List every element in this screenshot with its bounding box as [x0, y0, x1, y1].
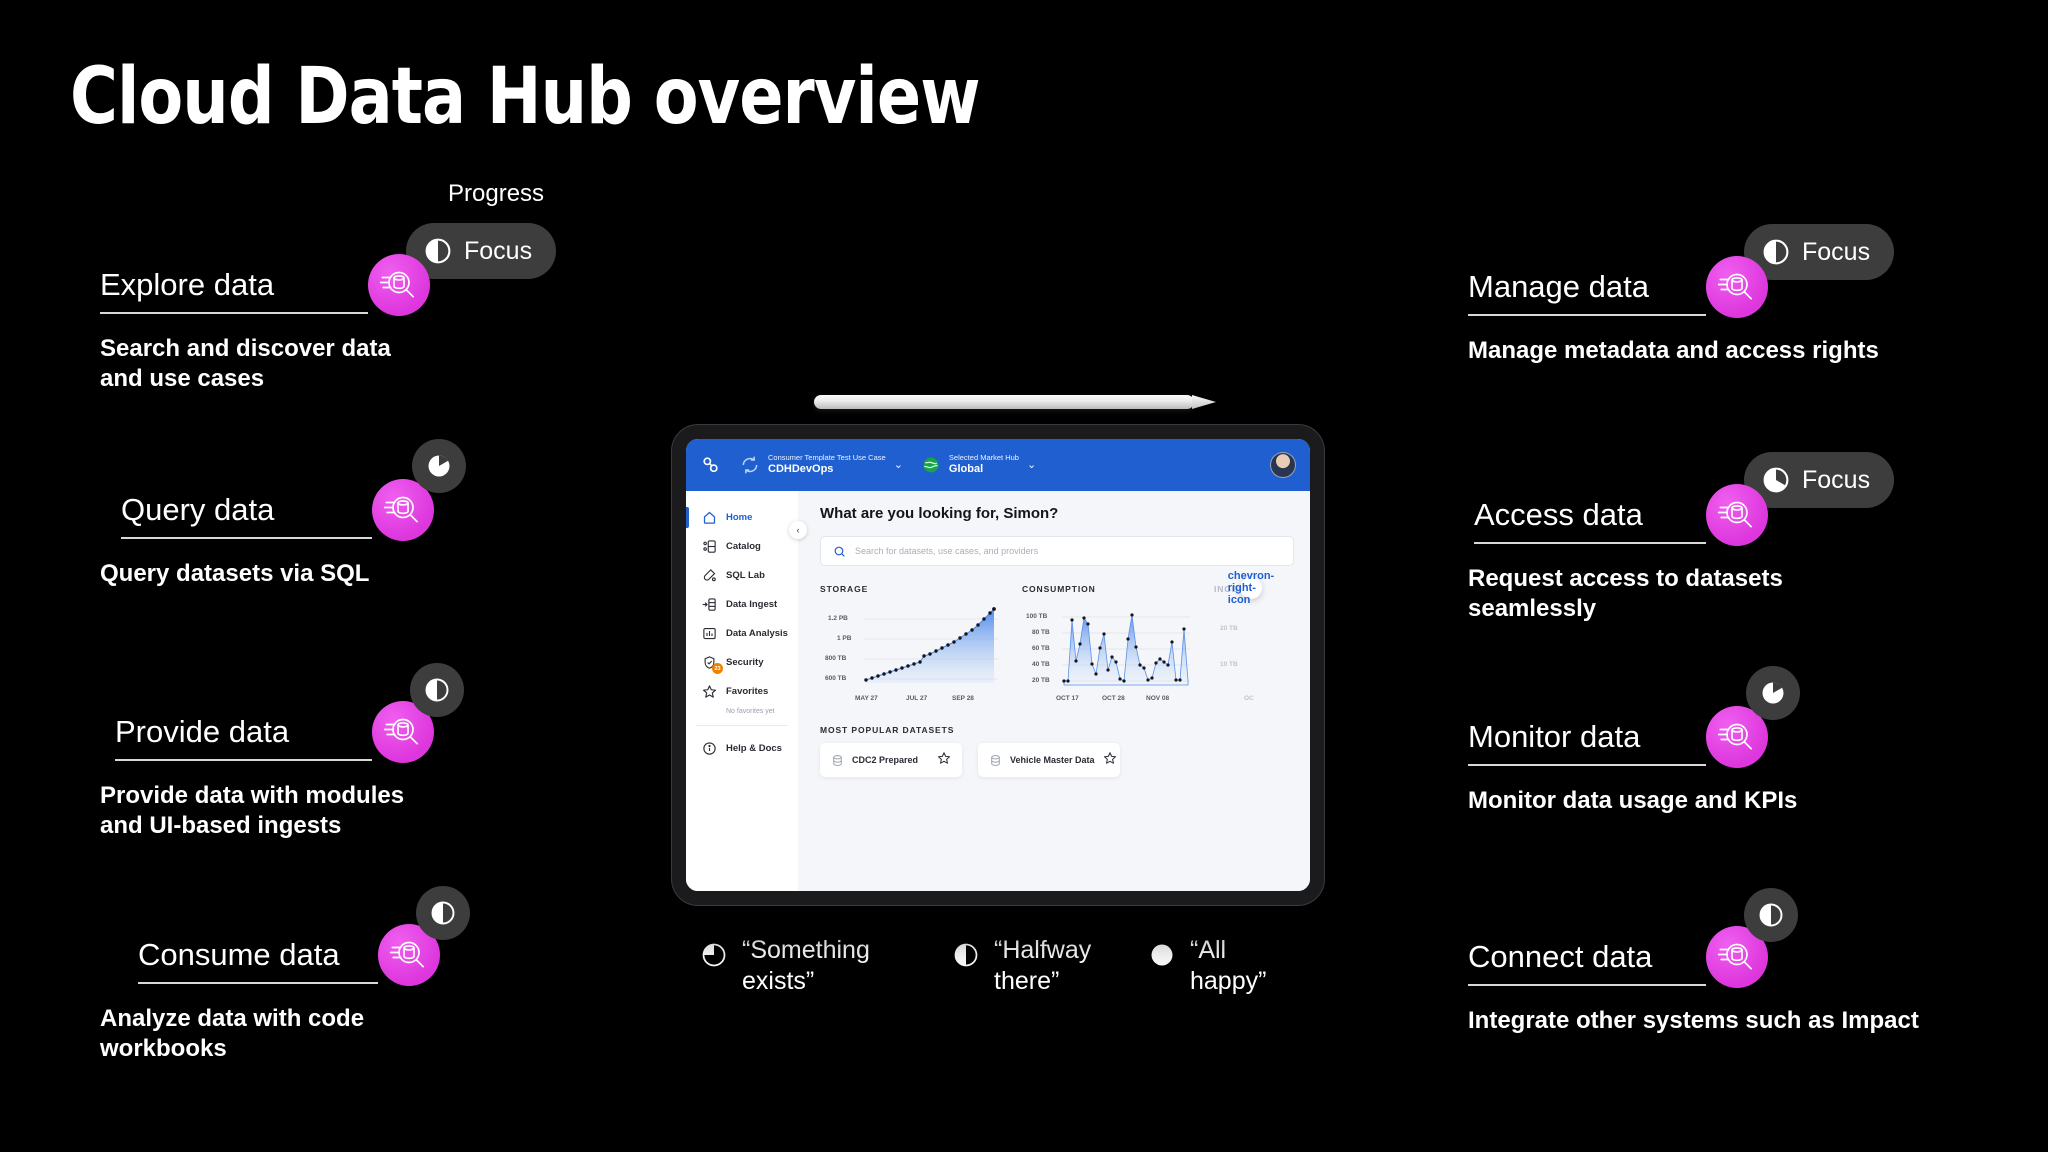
- capability-underline: [1468, 314, 1706, 316]
- capability-provide-data[interactable]: Provide data Provide data with modules a…: [100, 697, 720, 841]
- x-tick: NOV 08: [1146, 695, 1169, 702]
- sidebar-item-label: Data Ingest: [726, 599, 777, 610]
- capability-title: Consume data: [138, 939, 340, 974]
- progress-half-icon: [1757, 901, 1785, 929]
- star-icon: [702, 684, 717, 699]
- sidebar-item-label: Favorites: [726, 686, 768, 697]
- progress-caption: Progress: [448, 180, 544, 208]
- popular-datasets-caption: MOST POPULAR DATASETS: [820, 725, 1310, 735]
- sidebar-item-catalog[interactable]: Catalog: [686, 532, 798, 561]
- capability-consume-data[interactable]: Consume data Analyze data with code work…: [100, 920, 720, 1064]
- capability-title: Explore data: [100, 269, 274, 304]
- sidebar-item-label: Home: [726, 512, 752, 523]
- capability-description: Provide data with modules and UI-based i…: [100, 781, 720, 841]
- capability-monitor-data[interactable]: Monitor data Monitor data usage and KPIs: [1468, 702, 2048, 816]
- greeting-title: What are you looking for, Simon?: [820, 505, 1310, 522]
- capability-explore-data[interactable]: Explore data Focus Progress Search and d…: [100, 250, 720, 394]
- capability-title: Manage data: [1468, 271, 1649, 306]
- home-icon: [702, 510, 717, 525]
- y-tick: 600 TB: [825, 675, 846, 682]
- use-case-value: CDHDevOps: [768, 463, 886, 476]
- capability-description: Manage metadata and access rights: [1468, 336, 2048, 366]
- dataset-card[interactable]: Vehicle Master Data: [978, 743, 1120, 777]
- use-case-label: Consumer Template Test Use Case: [768, 454, 886, 463]
- capability-underline: [1468, 984, 1706, 986]
- sidebar-item-label: SQL Lab: [726, 570, 765, 581]
- progress-badge-half: [410, 663, 464, 717]
- y-tick: 1 PB: [837, 635, 851, 642]
- chevron-down-icon[interactable]: ⌄: [894, 458, 903, 471]
- capability-title: Monitor data: [1468, 721, 1640, 756]
- app-body: ‹ Home Catalog: [686, 491, 1310, 891]
- legend-item-something-exists: “Something exists”: [700, 935, 952, 996]
- chevron-down-icon[interactable]: ⌄: [1027, 458, 1036, 471]
- data-search-icon: [1706, 484, 1768, 546]
- progress-half-icon: [429, 899, 457, 927]
- capability-description: Integrate other systems such as Impact: [1468, 1006, 2048, 1036]
- info-icon: [702, 741, 717, 756]
- chart-plot: 100 TB 80 TB 60 TB 40 TB 20 TB OCT 17 OC…: [1022, 601, 1192, 707]
- dataset-name: CDC2 Prepared: [852, 755, 918, 765]
- data-ingest-icon: [702, 597, 717, 612]
- capability-description: Monitor data usage and KPIs: [1468, 786, 2048, 816]
- focus-badge-explore[interactable]: Focus: [406, 223, 556, 279]
- catalog-icon: [702, 539, 717, 554]
- y-tick: 20 TB: [1220, 625, 1238, 632]
- x-tick: SEP 28: [952, 695, 974, 702]
- data-analysis-icon: [702, 626, 717, 641]
- capability-underline: [100, 312, 368, 314]
- capability-manage-data[interactable]: Manage data Focus Manage metadata and ac…: [1468, 252, 2048, 366]
- progress-quarter-icon: [700, 941, 728, 969]
- charts-next-button[interactable]: chevron-right-icon: [1240, 577, 1262, 599]
- legend-item-all-happy: “All happy”: [1148, 935, 1266, 996]
- progress-half-icon: [952, 941, 980, 969]
- y-tick: 40 TB: [1032, 661, 1050, 668]
- capability-access-data[interactable]: Access data Focus Request access to data…: [1468, 480, 2048, 624]
- search-icon: [833, 545, 846, 558]
- y-tick: 20 TB: [1032, 677, 1050, 684]
- stylus-pencil: [814, 395, 1194, 409]
- legend-item-halfway-there: “Halfway there”: [952, 935, 1148, 996]
- capability-title: Query data: [121, 494, 274, 529]
- tablet-frame: Consumer Template Test Use Case CDHDevOp…: [672, 425, 1324, 905]
- progress-half-icon: [424, 237, 452, 265]
- search-input[interactable]: Search for datasets, use cases, and prov…: [820, 536, 1294, 566]
- data-search-icon: [1706, 256, 1768, 318]
- tablet-device: Consumer Template Test Use Case CDHDevOp…: [672, 385, 1324, 905]
- chart-consumption: CONSUMPTION: [1022, 584, 1192, 707]
- market-hub-label: Selected Market Hub: [949, 454, 1019, 463]
- capability-description: Query datasets via SQL: [100, 559, 720, 589]
- capability-underline: [138, 982, 378, 984]
- y-tick: 60 TB: [1032, 645, 1050, 652]
- progress-half-icon: [1762, 238, 1790, 266]
- sidebar-item-label: Data Analysis: [726, 628, 788, 639]
- favorites-empty-note: No favorites yet: [686, 706, 798, 715]
- sql-lab-icon: [702, 568, 717, 583]
- sidebar-collapse-button[interactable]: ‹: [789, 521, 807, 539]
- market-hub-selector[interactable]: Selected Market Hub Global ⌄: [921, 454, 1036, 475]
- refresh-icon: [740, 455, 760, 475]
- sidebar-item-label: Help & Docs: [726, 743, 782, 754]
- page-title: Cloud Data Hub overview: [70, 52, 980, 142]
- legend-label: “All happy”: [1190, 935, 1266, 996]
- capability-query-data[interactable]: Query data Query datasets via SQL: [100, 475, 720, 589]
- sidebar-item-help-docs[interactable]: Help & Docs: [686, 734, 798, 763]
- x-tick: OC: [1244, 695, 1254, 702]
- use-case-selector[interactable]: Consumer Template Test Use Case CDHDevOp…: [740, 454, 903, 475]
- capability-underline: [1474, 542, 1706, 544]
- app-sidebar: ‹ Home Catalog: [686, 491, 798, 891]
- legend-label: “Halfway there”: [994, 935, 1091, 996]
- cdh-logo-icon[interactable]: [700, 454, 722, 476]
- popular-datasets-list: CDC2 Prepared Vehicle Master D: [820, 743, 1310, 777]
- capability-connect-data[interactable]: Connect data Integrate other systems suc…: [1468, 922, 2048, 1036]
- progress-legend: “Something exists” “Halfway there” “All …: [700, 935, 1266, 996]
- dataset-name: Vehicle Master Data: [1010, 755, 1095, 765]
- y-tick: 10 TB: [1220, 661, 1238, 668]
- progress-full-icon: [1148, 941, 1176, 969]
- sidebar-item-security[interactable]: Security 23: [686, 648, 798, 677]
- avatar[interactable]: [1270, 452, 1296, 478]
- database-icon: [831, 754, 844, 767]
- sidebar-divider: [696, 725, 788, 726]
- dataset-card[interactable]: CDC2 Prepared: [820, 743, 962, 777]
- star-outline-icon[interactable]: [1103, 751, 1117, 770]
- capability-description: Analyze data with code workbooks: [100, 1004, 720, 1064]
- progress-badge-quarter: [412, 439, 466, 493]
- chart-storage: STORAGE: [820, 584, 1000, 707]
- progress-three-quarter-icon: [1762, 466, 1790, 494]
- star-outline-icon[interactable]: [937, 751, 951, 770]
- dashboard-charts: STORAGE: [820, 584, 1310, 707]
- capability-underline: [115, 759, 372, 761]
- x-tick: JUL 27: [906, 695, 927, 702]
- legend-label: “Something exists”: [742, 935, 870, 996]
- focus-label: Focus: [1802, 466, 1870, 495]
- capability-underline: [1468, 764, 1706, 766]
- capability-description: Request access to datasets seamlessly: [1468, 564, 2048, 624]
- market-hub-value: Global: [949, 463, 1019, 476]
- x-tick: OCT 17: [1056, 695, 1079, 702]
- chart-title: CONSUMPTION: [1022, 584, 1192, 594]
- progress-badge-half: [1744, 888, 1798, 942]
- sidebar-item-data-ingest[interactable]: Data Ingest: [686, 590, 798, 619]
- app-header: Consumer Template Test Use Case CDHDevOp…: [686, 439, 1310, 491]
- data-search-icon: [368, 254, 430, 316]
- progress-quarter-icon: [1759, 679, 1787, 707]
- capability-title: Access data: [1474, 499, 1643, 534]
- capability-description: Search and discover data and use cases: [100, 334, 720, 394]
- capability-title: Connect data: [1468, 941, 1652, 976]
- globe-icon: [921, 455, 941, 475]
- search-placeholder: Search for datasets, use cases, and prov…: [855, 546, 1038, 556]
- chart-plot: 1.2 PB 1 PB 800 TB 600 TB MAY 27 JUL 27 …: [820, 601, 1000, 707]
- sidebar-item-home[interactable]: Home: [686, 503, 798, 532]
- capability-title: Provide data: [115, 716, 289, 751]
- x-tick: OCT 28: [1102, 695, 1125, 702]
- progress-badge-half: [416, 886, 470, 940]
- progress-quarter-icon: [425, 452, 453, 480]
- app-main: What are you looking for, Simon? Search …: [798, 491, 1310, 891]
- x-tick: MAY 27: [855, 695, 878, 702]
- focus-label: Focus: [1802, 238, 1870, 267]
- chart-title: STORAGE: [820, 584, 1000, 594]
- tablet-screen: Consumer Template Test Use Case CDHDevOp…: [686, 439, 1310, 891]
- database-icon: [989, 754, 1002, 767]
- y-tick: 80 TB: [1032, 629, 1050, 636]
- chart-plot: 20 TB 10 TB OC: [1214, 601, 1284, 707]
- y-tick: 100 TB: [1026, 613, 1047, 620]
- sidebar-item-favorites[interactable]: Favorites: [686, 677, 798, 706]
- sidebar-item-data-analysis[interactable]: Data Analysis: [686, 619, 798, 648]
- y-tick: 800 TB: [825, 655, 846, 662]
- y-tick: 1.2 PB: [828, 615, 848, 622]
- focus-badge-access[interactable]: Focus: [1744, 452, 1894, 508]
- sidebar-item-sql-lab[interactable]: SQL Lab: [686, 561, 798, 590]
- security-badge-count: 23: [712, 663, 723, 674]
- capability-underline: [121, 537, 372, 539]
- sidebar-item-label: Security: [726, 657, 764, 668]
- focus-badge-manage[interactable]: Focus: [1744, 224, 1894, 280]
- progress-badge-quarter: [1746, 666, 1800, 720]
- progress-half-icon: [423, 676, 451, 704]
- sidebar-item-label: Catalog: [726, 541, 761, 552]
- focus-label: Focus: [464, 237, 532, 266]
